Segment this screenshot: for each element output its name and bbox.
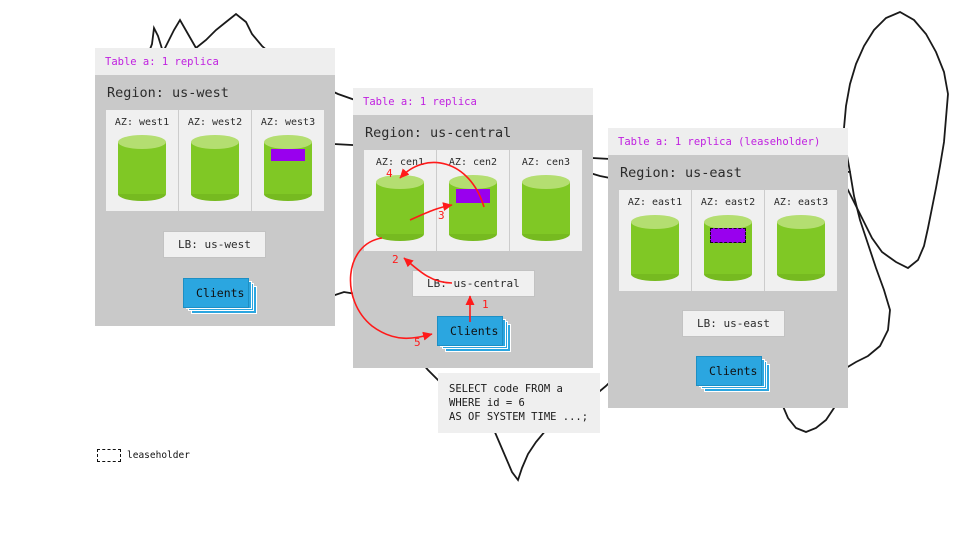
az-label: AZ: west2 <box>179 117 251 128</box>
cylinder-body <box>191 142 239 194</box>
load-balancer-us-central[interactable]: LB: us-central <box>412 270 535 297</box>
region-panel-us-central: Table a: 1 replica Region: us-central AZ… <box>353 88 593 368</box>
region-replica-header: Table a: 1 replica (leaseholder) <box>608 128 848 155</box>
legend-label: leaseholder <box>127 450 190 461</box>
node-cylinder[interactable] <box>118 135 166 201</box>
az-cell-west1[interactable]: AZ: west1 <box>106 110 179 211</box>
clients-label[interactable]: Clients <box>183 278 249 308</box>
cylinder-top <box>118 135 166 149</box>
node-cylinder[interactable] <box>704 215 752 281</box>
az-cell-west2[interactable]: AZ: west2 <box>179 110 252 211</box>
clients-us-east[interactable]: Clients <box>696 356 768 390</box>
az-cell-cen2[interactable]: AZ: cen2 <box>437 150 510 251</box>
az-cell-cen3[interactable]: AZ: cen3 <box>510 150 582 251</box>
az-label: AZ: east3 <box>765 197 837 208</box>
az-label: AZ: cen1 <box>364 157 436 168</box>
cylinder-top <box>449 175 497 189</box>
az-label: AZ: east1 <box>619 197 691 208</box>
az-cell-east3[interactable]: AZ: east3 <box>765 190 837 291</box>
node-cylinder[interactable] <box>376 175 424 241</box>
clients-label[interactable]: Clients <box>437 316 503 346</box>
clients-label[interactable]: Clients <box>696 356 762 386</box>
load-balancer-us-west[interactable]: LB: us-west <box>163 231 266 258</box>
az-cell-east2[interactable]: AZ: east2 <box>692 190 765 291</box>
az-label: AZ: west3 <box>252 117 324 128</box>
clients-us-central[interactable]: Clients <box>437 316 509 350</box>
region-replica-header: Table a: 1 replica <box>95 48 335 75</box>
cylinder-top <box>376 175 424 189</box>
az-label: AZ: cen3 <box>510 157 582 168</box>
legend-leaseholder: leaseholder <box>97 449 190 462</box>
cylinder-body <box>522 182 570 234</box>
region-title: Region: us-east <box>608 155 848 190</box>
az-row: AZ: east1 AZ: east2 AZ: east3 <box>619 190 837 291</box>
arrow-number-1: 1 <box>482 298 489 311</box>
arrow-number-5: 5 <box>414 336 421 349</box>
region-panel-us-west: Table a: 1 replica Region: us-west AZ: w… <box>95 48 335 326</box>
cylinder-top <box>264 135 312 149</box>
node-cylinder[interactable] <box>264 135 312 201</box>
az-cell-cen1[interactable]: AZ: cen1 <box>364 150 437 251</box>
az-cell-east1[interactable]: AZ: east1 <box>619 190 692 291</box>
node-cylinder[interactable] <box>631 215 679 281</box>
az-label: AZ: west1 <box>106 117 178 128</box>
az-label: AZ: east2 <box>692 197 764 208</box>
cylinder-body <box>777 222 825 274</box>
cylinder-body <box>376 182 424 234</box>
az-row: AZ: cen1 AZ: cen2 AZ: cen3 <box>364 150 582 251</box>
cylinder-top <box>191 135 239 149</box>
cylinder-body <box>631 222 679 274</box>
cylinder-top <box>522 175 570 189</box>
diagram-stage: Table a: 1 replica Region: us-west AZ: w… <box>0 0 960 540</box>
cylinder-top <box>631 215 679 229</box>
sql-query-box: SELECT code FROM a WHERE id = 6 AS OF SY… <box>438 373 600 433</box>
cylinder-top <box>704 215 752 229</box>
az-row: AZ: west1 AZ: west2 AZ: west3 <box>106 110 324 211</box>
replica-block[interactable] <box>271 149 305 161</box>
cylinder-top <box>777 215 825 229</box>
node-cylinder[interactable] <box>777 215 825 281</box>
node-cylinder[interactable] <box>449 175 497 241</box>
replica-block[interactable] <box>456 189 490 203</box>
region-panel-us-east: Table a: 1 replica (leaseholder) Region:… <box>608 128 848 408</box>
region-title: Region: us-central <box>353 115 593 150</box>
node-cylinder[interactable] <box>191 135 239 201</box>
az-cell-west3[interactable]: AZ: west3 <box>252 110 324 211</box>
region-title: Region: us-west <box>95 75 335 110</box>
arrow-number-3: 3 <box>438 209 445 222</box>
dashed-rect-icon <box>97 449 121 462</box>
az-label: AZ: cen2 <box>437 157 509 168</box>
replica-block-leaseholder[interactable] <box>710 228 746 243</box>
node-cylinder[interactable] <box>522 175 570 241</box>
arrow-number-2: 2 <box>392 253 399 266</box>
arrow-number-4: 4 <box>386 167 393 180</box>
cylinder-body <box>118 142 166 194</box>
region-replica-header: Table a: 1 replica <box>353 88 593 115</box>
clients-us-west[interactable]: Clients <box>183 278 255 312</box>
load-balancer-us-east[interactable]: LB: us-east <box>682 310 785 337</box>
